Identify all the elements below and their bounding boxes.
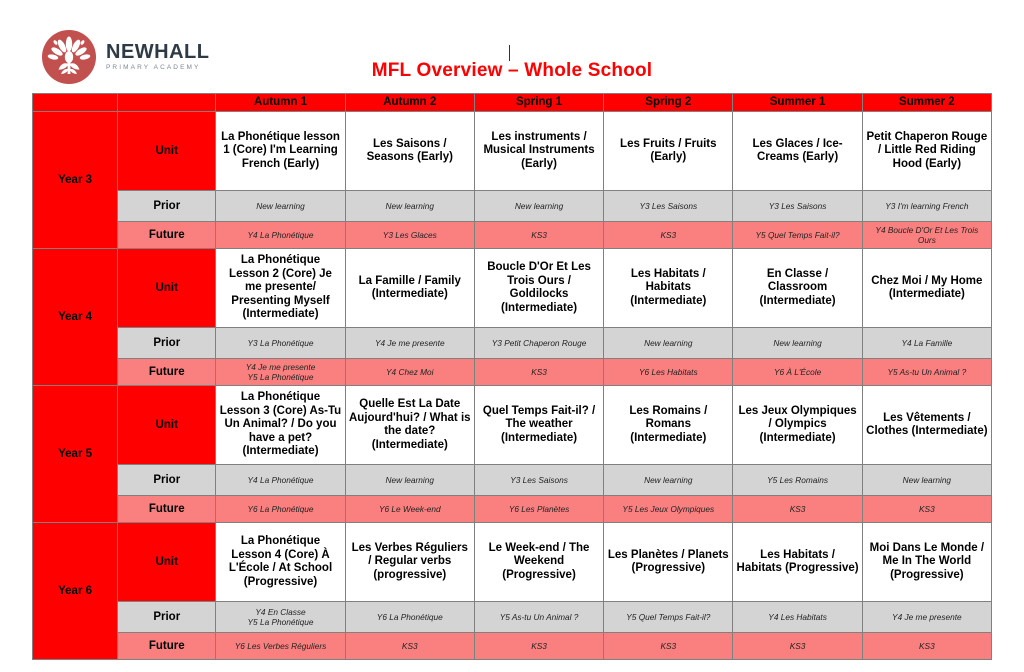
column-header-autumn-2: Autumn 2 (345, 94, 474, 112)
row-label-unit: Unit (118, 523, 216, 602)
document-header: NEWHALL PRIMARY ACADEMY MFL Overview – W… (0, 0, 1024, 93)
table-header-row: Autumn 1 Autumn 2 Spring 1 Spring 2 Summ… (33, 94, 992, 112)
future-cell: Y5 As-tu Un Animal ? (862, 359, 991, 386)
prior-cell: Y3 Les Saisons (604, 191, 733, 222)
table-row: Year 4 Unit La Phonétique Lesson 2 (Core… (33, 249, 992, 328)
unit-cell: Quelle Est La Date Aujourd'hui? / What i… (345, 386, 474, 465)
year-label-4: Year 4 (33, 249, 118, 386)
unit-cell: Boucle D'Or Et Les Trois Ours / Goldiloc… (474, 249, 603, 328)
prior-cell: New learning (216, 191, 345, 222)
unit-cell: Petit Chaperon Rouge / Little Red Riding… (862, 112, 991, 191)
prior-cell: Y3 Les Saisons (733, 191, 862, 222)
future-cell: Y4 Je me presente Y5 La Phonétique (216, 359, 345, 386)
row-label-unit: Unit (118, 112, 216, 191)
table-row: Prior Y4 En Classe Y5 La Phonétique Y6 L… (33, 602, 992, 633)
unit-cell: Les Jeux Olympiques / Olympics (Intermed… (733, 386, 862, 465)
unit-cell: Quel Temps Fait-il? / The weather (Inter… (474, 386, 603, 465)
unit-cell: Les Habitats / Habitats (Progressive) (733, 523, 862, 602)
future-cell: Y6 La Phonétique (216, 496, 345, 523)
unit-cell: La Phonétique Lesson 2 (Core) Je me pres… (216, 249, 345, 328)
unit-cell: Moi Dans Le Monde / Me In The World (Pro… (862, 523, 991, 602)
unit-cell: Chez Moi / My Home (Intermediate) (862, 249, 991, 328)
table-row: Future Y4 La Phonétique Y3 Les Glaces KS… (33, 222, 992, 249)
prior-cell: Y4 En Classe Y5 La Phonétique (216, 602, 345, 633)
prior-cell: Y4 Je me presente (345, 328, 474, 359)
row-label-prior: Prior (118, 602, 216, 633)
future-cell: Y6 Le Week-end (345, 496, 474, 523)
future-cell: Y5 Quel Temps Fait-il? (733, 222, 862, 249)
unit-cell: La Phonétique Lesson 4 (Core) À L'École … (216, 523, 345, 602)
table-row: Year 3 Unit La Phonétique lesson 1 (Core… (33, 112, 992, 191)
table-row: Year 5 Unit La Phonétique Lesson 3 (Core… (33, 386, 992, 465)
text-cursor-caret (509, 45, 510, 61)
prior-cell: Y3 Les Saisons (474, 465, 603, 496)
prior-cell: New learning (345, 191, 474, 222)
row-label-future: Future (118, 633, 216, 660)
header-corner-rowlabel (118, 94, 216, 112)
prior-cell: New learning (474, 191, 603, 222)
future-cell: Y6 Les Habitats (604, 359, 733, 386)
prior-cell: New learning (733, 328, 862, 359)
prior-cell: Y5 Quel Temps Fait-il? (604, 602, 733, 633)
future-cell: Y6 Les Verbes Réguliers (216, 633, 345, 660)
row-label-prior: Prior (118, 328, 216, 359)
unit-cell: Le Week-end / The Weekend (Progressive) (474, 523, 603, 602)
year-label-6: Year 6 (33, 523, 118, 660)
unit-cell: La Phonétique Lesson 3 (Core) As-Tu Un A… (216, 386, 345, 465)
column-header-summer-2: Summer 2 (862, 94, 991, 112)
prior-cell: Y3 Petit Chaperon Rouge (474, 328, 603, 359)
table-row: Future Y6 La Phonétique Y6 Le Week-end Y… (33, 496, 992, 523)
future-cell: Y3 Les Glaces (345, 222, 474, 249)
future-cell: Y5 Les Jeux Olympiques (604, 496, 733, 523)
unit-cell: Les Romains / Romans (Intermediate) (604, 386, 733, 465)
future-cell: Y6 À L'École (733, 359, 862, 386)
future-cell: Y4 La Phonétique (216, 222, 345, 249)
year-label-5: Year 5 (33, 386, 118, 523)
future-cell: KS3 (604, 633, 733, 660)
future-cell: KS3 (474, 633, 603, 660)
table-row: Prior Y3 La Phonétique Y4 Je me presente… (33, 328, 992, 359)
future-cell: Y4 Chez Moi (345, 359, 474, 386)
prior-cell: Y4 La Famille (862, 328, 991, 359)
unit-cell: Les Habitats / Habitats (Intermediate) (604, 249, 733, 328)
column-header-spring-1: Spring 1 (474, 94, 603, 112)
unit-cell: Les Vêtements / Clothes (Intermediate) (862, 386, 991, 465)
prior-cell: Y3 La Phonétique (216, 328, 345, 359)
prior-cell: Y4 Les Habitats (733, 602, 862, 633)
mfl-overview-table: Autumn 1 Autumn 2 Spring 1 Spring 2 Summ… (32, 93, 992, 660)
future-cell: Y6 Les Planètes (474, 496, 603, 523)
unit-cell: Les Saisons / Seasons (Early) (345, 112, 474, 191)
future-cell: KS3 (862, 496, 991, 523)
row-label-unit: Unit (118, 249, 216, 328)
prior-cell: Y3 I'm learning French (862, 191, 991, 222)
prior-cell: New learning (862, 465, 991, 496)
prior-cell: New learning (345, 465, 474, 496)
unit-cell: Les Glaces / Ice-Creams (Early) (733, 112, 862, 191)
prior-cell: Y6 La Phonétique (345, 602, 474, 633)
row-label-future: Future (118, 359, 216, 386)
future-cell: KS3 (474, 359, 603, 386)
row-label-future: Future (118, 496, 216, 523)
column-header-summer-1: Summer 1 (733, 94, 862, 112)
future-cell: KS3 (345, 633, 474, 660)
table-row: Prior New learning New learning New lear… (33, 191, 992, 222)
table-row: Prior Y4 La Phonétique New learning Y3 L… (33, 465, 992, 496)
row-label-prior: Prior (118, 465, 216, 496)
page-title: MFL Overview – Whole School (0, 60, 1024, 82)
future-cell: KS3 (474, 222, 603, 249)
table-row: Future Y6 Les Verbes Réguliers KS3 KS3 K… (33, 633, 992, 660)
unit-cell: Les Fruits / Fruits (Early) (604, 112, 733, 191)
future-cell: KS3 (862, 633, 991, 660)
unit-cell: Les Verbes Réguliers / Regular verbs (pr… (345, 523, 474, 602)
unit-cell: Les instruments / Musical Instruments (E… (474, 112, 603, 191)
unit-cell: La Famille / Family (Intermediate) (345, 249, 474, 328)
future-cell: Y4 Boucle D'Or Et Les Trois Ours (862, 222, 991, 249)
future-cell: KS3 (604, 222, 733, 249)
row-label-prior: Prior (118, 191, 216, 222)
prior-cell: New learning (604, 328, 733, 359)
unit-cell: Les Planètes / Planets (Progressive) (604, 523, 733, 602)
year-label-3: Year 3 (33, 112, 118, 249)
prior-cell: Y4 Je me presente (862, 602, 991, 633)
unit-cell: La Phonétique lesson 1 (Core) I'm Learni… (216, 112, 345, 191)
header-corner-year (33, 94, 118, 112)
future-cell: KS3 (733, 496, 862, 523)
prior-cell: Y4 La Phonétique (216, 465, 345, 496)
prior-cell: Y5 As-tu Un Animal ? (474, 602, 603, 633)
column-header-spring-2: Spring 2 (604, 94, 733, 112)
future-cell: KS3 (733, 633, 862, 660)
column-header-autumn-1: Autumn 1 (216, 94, 345, 112)
row-label-unit: Unit (118, 386, 216, 465)
table-row: Future Y4 Je me presente Y5 La Phonétiqu… (33, 359, 992, 386)
unit-cell: En Classe / Classroom (Intermediate) (733, 249, 862, 328)
document-page: NEWHALL PRIMARY ACADEMY MFL Overview – W… (0, 0, 1024, 672)
prior-cell: Y5 Les Romains (733, 465, 862, 496)
row-label-future: Future (118, 222, 216, 249)
table-row: Year 6 Unit La Phonétique Lesson 4 (Core… (33, 523, 992, 602)
prior-cell: New learning (604, 465, 733, 496)
